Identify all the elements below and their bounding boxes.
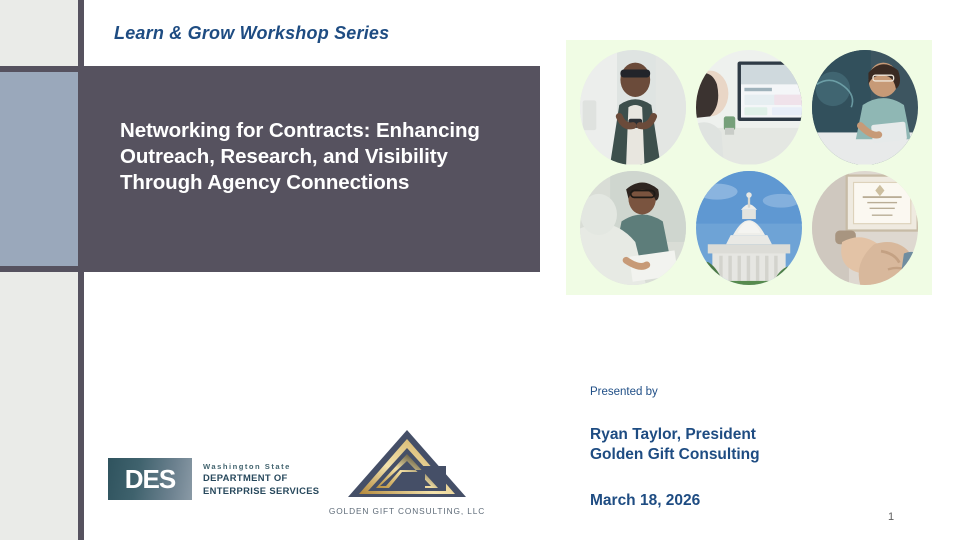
des-line-2: DEPARTMENT OF (203, 472, 319, 485)
right-panel: Presented by Ryan Taylor, President Gold… (540, 0, 960, 540)
des-mark-text: DES (125, 464, 175, 495)
des-mark-icon: DES (108, 458, 192, 500)
logo-row: DES Washington State DEPARTMENT OF ENTER… (84, 420, 540, 530)
photo-collage-grid (580, 50, 918, 285)
presenter-info: Ryan Taylor, President Golden Gift Consu… (590, 425, 760, 465)
page-title: Networking for Contracts: Enhancing Outr… (120, 118, 516, 197)
left-accent-block (0, 72, 78, 266)
photo-collage (566, 40, 932, 295)
presentation-slide: Learn & Grow Workshop Series Networking … (0, 0, 960, 540)
photo-handshake-certificate (812, 171, 918, 286)
title-block: Networking for Contracts: Enhancing Outr… (84, 66, 540, 272)
kicker-band: Learn & Grow Workshop Series (84, 0, 540, 66)
golden-gift-triangle-icon (345, 428, 469, 500)
presenter-name: Ryan Taylor, President (590, 425, 760, 445)
des-wordmark: Washington State DEPARTMENT OF ENTERPRIS… (203, 461, 319, 497)
presenter-organization: Golden Gift Consulting (590, 445, 760, 465)
presented-by-label: Presented by (590, 386, 658, 398)
photo-two-people-meeting (580, 171, 686, 286)
left-rule-bottom (0, 266, 78, 272)
series-kicker: Learn & Grow Workshop Series (114, 23, 389, 44)
photo-man-with-smartphone (580, 50, 686, 165)
photo-woman-at-monitor (696, 50, 802, 165)
slide-number: 1 (888, 511, 894, 523)
golden-gift-wordmark: GOLDEN GIFT CONSULTING, LLC (322, 506, 492, 516)
des-line-3: ENTERPRISE SERVICES (203, 485, 319, 498)
photo-woman-with-tablet (812, 50, 918, 165)
talk-date: March 18, 2026 (590, 492, 700, 510)
left-rule-top (0, 66, 78, 72)
des-line-1: Washington State (203, 461, 319, 472)
des-logo: DES Washington State DEPARTMENT OF ENTER… (108, 458, 319, 500)
golden-gift-logo: GOLDEN GIFT CONSULTING, LLC (322, 428, 492, 516)
photo-state-capitol (696, 171, 802, 286)
